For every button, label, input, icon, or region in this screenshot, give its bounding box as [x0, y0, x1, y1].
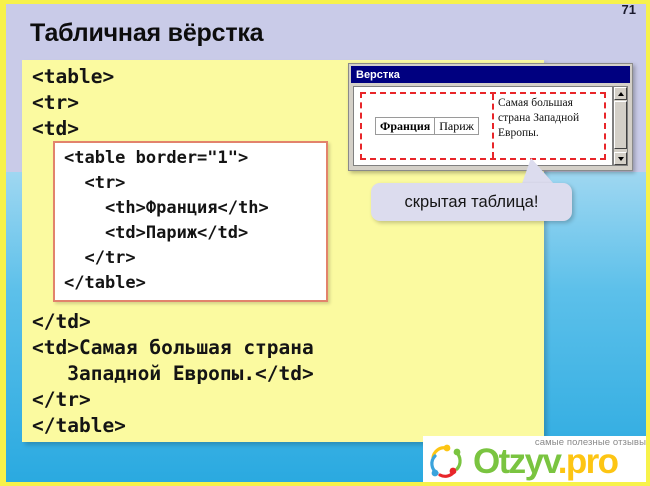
code-block-nested: <table border="1"> <tr> <th>Франция</th>…: [64, 146, 269, 296]
page-number: 71: [622, 2, 636, 17]
triangle-down-glyph: [618, 157, 624, 161]
scroll-up-arrow-icon[interactable]: [614, 87, 627, 100]
callout-bubble: скрытая таблица!: [371, 183, 572, 221]
logo-wordmark: Otzyv.pro: [473, 443, 617, 481]
triangle-up-glyph: [618, 92, 624, 96]
outer-table-cell-right: Самая большая страна Западной Европы.: [492, 94, 604, 158]
table-row: Франция Париж: [376, 118, 479, 135]
code-block-top: <table> <tr> <td>: [32, 64, 114, 142]
slide-edge-top: [0, 0, 650, 4]
outer-table-outline: Франция Париж Самая большая страна Запад…: [360, 92, 606, 160]
table-header-cell: Франция: [376, 118, 435, 135]
browser-titlebar: Верстка: [351, 66, 630, 83]
slide-edge-bottom: [0, 482, 650, 486]
browser-window[interactable]: Верстка Франция Париж Самая большая стра…: [348, 63, 633, 171]
scroll-down-arrow-icon[interactable]: [614, 152, 627, 165]
vertical-scrollbar[interactable]: [613, 86, 628, 166]
description-text: Самая большая страна Западной Европы.: [498, 96, 604, 141]
browser-viewport: Франция Париж Самая большая страна Запад…: [353, 86, 613, 166]
slide-edge-left: [0, 0, 6, 486]
site-logo[interactable]: самые полезные отзывы Otzyv.pro: [423, 436, 650, 486]
slide-canvas: 71 Табличная вёрстка <table> <tr> <td> <…: [0, 0, 650, 486]
slide-edge-right: [646, 0, 650, 486]
rendered-nested-table: Франция Париж: [375, 117, 479, 135]
page-title: Табличная вёрстка: [30, 19, 263, 48]
scrollbar-thumb[interactable]: [614, 101, 627, 149]
code-block-bottom: </td> <td>Самая большая страна Западной …: [32, 309, 314, 439]
table-data-cell: Париж: [435, 118, 479, 135]
nested-table-code-box: <table border="1"> <tr> <th>Франция</th>…: [53, 141, 328, 302]
logo-word-secondary: .pro: [558, 442, 618, 481]
people-pinwheel-icon: [426, 442, 468, 482]
browser-title-text: Верстка: [351, 69, 400, 81]
logo-word-primary: Otzyv: [473, 442, 558, 481]
outer-table-cell-left: Франция Париж: [362, 94, 492, 158]
callout-label: скрытая таблица!: [405, 193, 539, 212]
